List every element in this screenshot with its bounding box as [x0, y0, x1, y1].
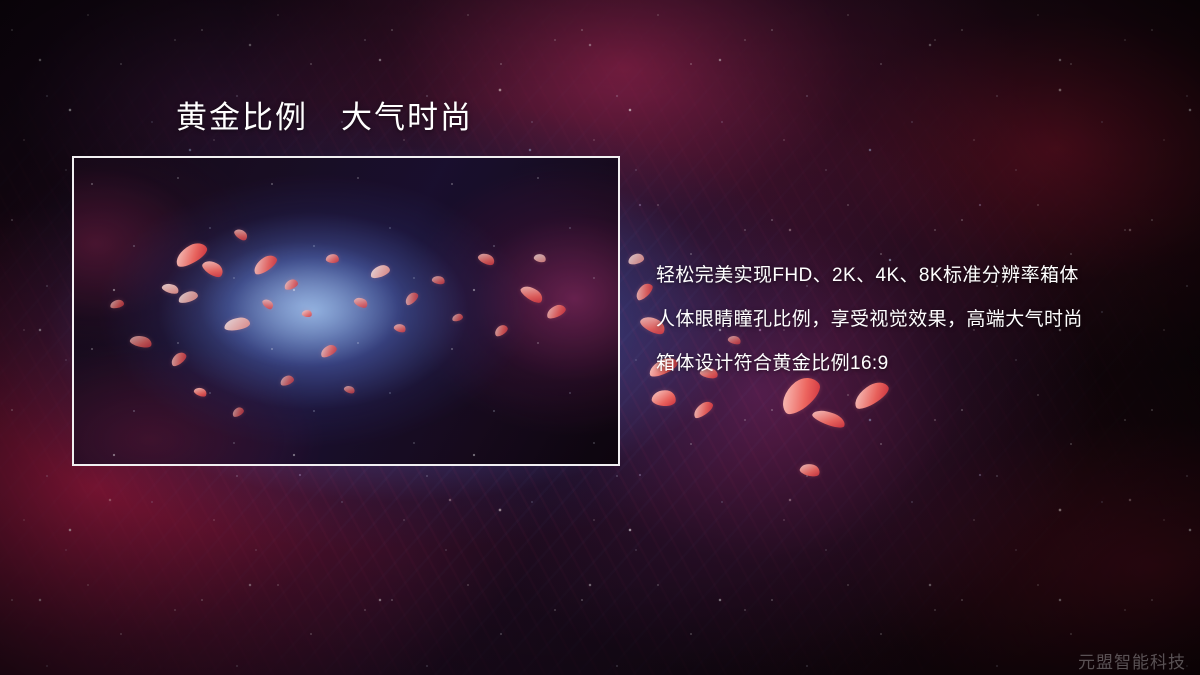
flower-petal-icon: [811, 406, 847, 431]
flower-petal-icon: [231, 406, 245, 418]
flower-petal-icon: [251, 252, 280, 277]
flower-petal-icon: [353, 295, 370, 310]
page-title: 黄金比例 大气时尚: [176, 100, 473, 137]
flower-petal-icon: [493, 323, 510, 338]
flower-petal-icon: [477, 251, 497, 268]
flower-petal-icon: [533, 252, 547, 263]
flower-petal-icon: [343, 384, 356, 395]
flower-petal-icon: [172, 239, 210, 270]
presentation-slide: 黄金比例 大气时尚 轻松完美实现FHD、2K、4K、8K标准分辨率箱体 人体眼睛…: [0, 0, 1200, 675]
flower-petal-icon: [200, 257, 225, 280]
flower-petal-icon: [283, 278, 299, 291]
flower-petal-icon: [393, 322, 407, 334]
flower-petal-icon: [369, 263, 391, 280]
flower-petal-icon: [109, 299, 124, 309]
flower-petal-icon: [325, 253, 339, 264]
flower-petal-icon: [799, 461, 822, 478]
star-field-fine: [74, 158, 618, 464]
flower-petal-icon: [169, 350, 189, 368]
flower-petal-icon: [223, 316, 250, 332]
flower-petal-icon: [261, 297, 275, 311]
flower-petal-icon: [319, 343, 339, 359]
flower-petal-icon: [627, 252, 645, 265]
flower-petal-icon: [431, 274, 446, 285]
flower-petal-icon: [129, 333, 153, 349]
body-line: 箱体设计符合黄金比例16:9: [656, 342, 1196, 386]
flower-petal-icon: [301, 309, 312, 318]
flower-petal-icon: [403, 290, 420, 307]
body-line: 人体眼睛瞳孔比例，享受视觉效果，高端大气时尚: [656, 298, 1196, 342]
flower-petal-icon: [545, 303, 568, 321]
flower-petal-icon: [279, 374, 295, 387]
flower-petal-icon: [651, 388, 677, 407]
image-frame: [72, 156, 620, 466]
flower-petal-icon: [233, 227, 250, 243]
flower-petal-icon: [161, 281, 180, 295]
flower-petal-icon: [519, 282, 546, 306]
body-line: 轻松完美实现FHD、2K、4K、8K标准分辨率箱体: [656, 254, 1196, 298]
body-text-block: 轻松完美实现FHD、2K、4K、8K标准分辨率箱体 人体眼睛瞳孔比例，享受视觉效…: [656, 254, 1196, 386]
flower-petal-icon: [451, 313, 463, 322]
flower-petal-icon: [177, 290, 199, 305]
flower-petal-icon: [691, 399, 715, 420]
flower-petal-icon: [633, 281, 655, 303]
watermark: 元盟智能科技: [1078, 648, 1186, 673]
flower-petal-icon: [193, 386, 208, 399]
